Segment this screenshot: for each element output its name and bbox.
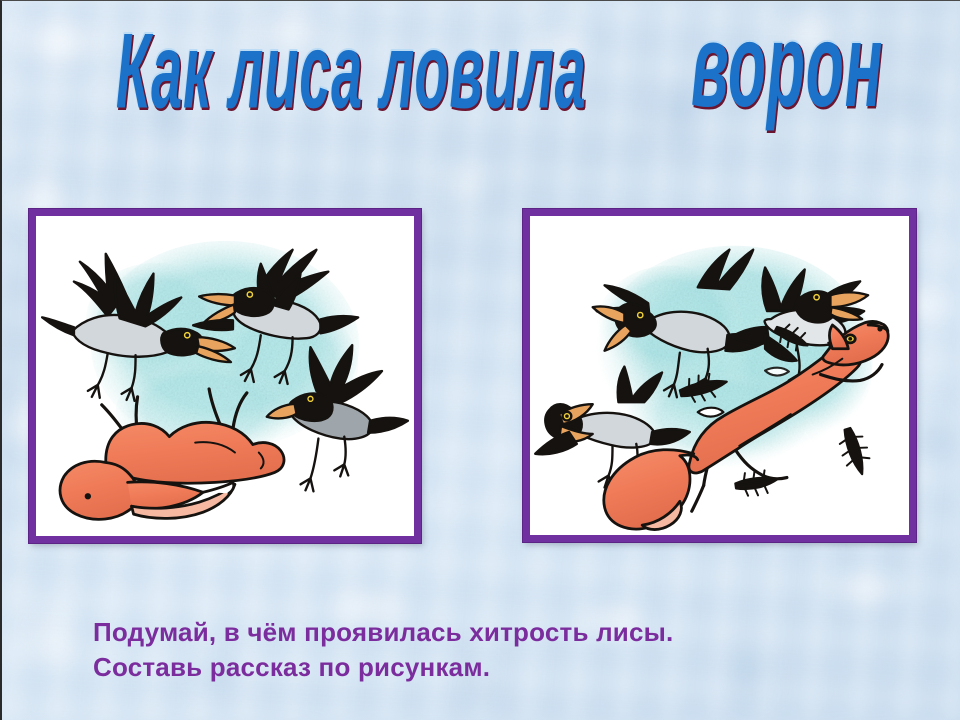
feather-2 — [835, 425, 874, 478]
picture-frame-right[interactable] — [523, 209, 916, 542]
wordart-title: Как лиса ловила ворон — [57, 44, 908, 135]
caption-line-1: Подумай, в чём проявилась хитрость лисы. — [93, 615, 893, 650]
caption-text: Подумай, в чём проявилась хитрость лисы.… — [93, 615, 893, 685]
picture-frame-left[interactable] — [29, 209, 421, 543]
illustration-fox-catching-crow — [530, 216, 909, 535]
caption-line-2: Составь рассказ по рисункам. — [93, 650, 893, 685]
wordart-title-part-one: Как лиса ловила — [116, 10, 587, 132]
slide: Как лиса ловила ворон — [0, 0, 960, 720]
wordart-title-part-two: ворон — [691, 0, 883, 135]
page-title: Как лиса ловила ворон — [2, 19, 960, 159]
illustration-fox-playing-dead — [36, 216, 414, 536]
